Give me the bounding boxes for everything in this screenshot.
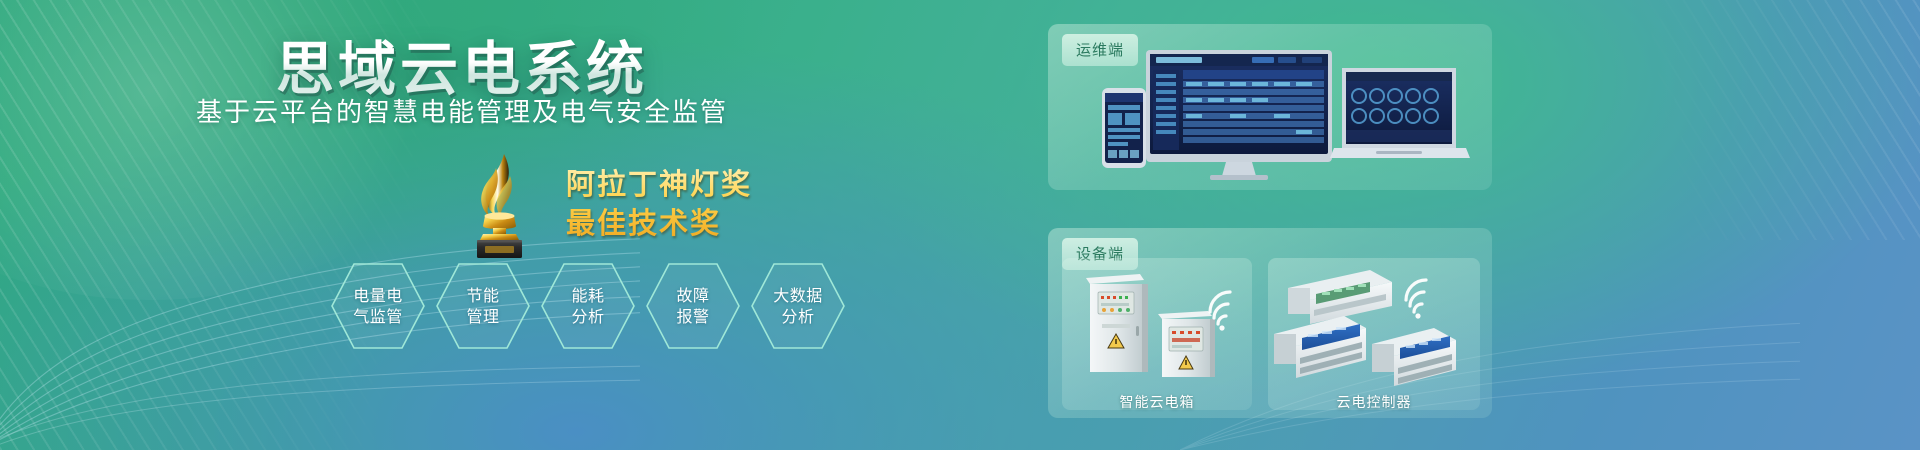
cloud-controller-illustration [1266,248,1482,392]
smart-cabinet-illustration [1062,256,1252,392]
awards-text: 阿拉丁神灯奖 最佳技术奖 [566,165,752,243]
page-subtitle: 基于云平台的智慧电能管理及电气安全监管 [0,92,860,129]
device-caption-cabinet: 智能云电箱 [1062,392,1252,444]
feature-tag[interactable]: 大数据 分析 [750,258,846,354]
feature-tag-list: 电量电 气监管 节能 管理 能耗 分析 [322,258,846,354]
left-content: 思域云电系统 基于云平台的智慧电能管理及电气安全监管 [0,0,860,450]
cabinet-small-icon [1158,311,1215,377]
feature-tag-label: 节能 管理 [466,285,499,327]
feature-tag-label: 能耗 分析 [571,285,604,327]
controller-right-icon [1372,328,1456,386]
feature-tag-label: 故障 报警 [676,285,709,327]
feature-tag[interactable]: 节能 管理 [435,258,531,354]
feature-tag[interactable]: 电量电 气监管 [330,258,426,354]
wifi-signal-icon [1406,280,1426,319]
device-caption-controller: 云电控制器 [1268,392,1480,444]
ops-device-illustration [1076,44,1476,184]
award-line-2: 最佳技术奖 [566,204,752,243]
controller-top-icon [1288,270,1392,324]
laptop-icon [1330,68,1470,158]
monitor-icon [1146,50,1332,180]
award-line-1: 阿拉丁神灯奖 [566,165,752,204]
feature-tag-label: 电量电 气监管 [353,285,403,327]
feature-tag[interactable]: 能耗 分析 [540,258,636,354]
controller-left-icon [1274,316,1366,378]
smartphone-icon [1102,88,1146,168]
promo-banner: 思域云电系统 基于云平台的智慧电能管理及电气安全监管 [0,0,1920,450]
feature-tag-label: 大数据 分析 [773,285,823,327]
background-diagonal-stripes-right [1620,0,1920,240]
cabinet-large-icon [1086,274,1148,372]
trophy-icon [452,150,548,260]
feature-tag[interactable]: 故障 报警 [645,258,741,354]
